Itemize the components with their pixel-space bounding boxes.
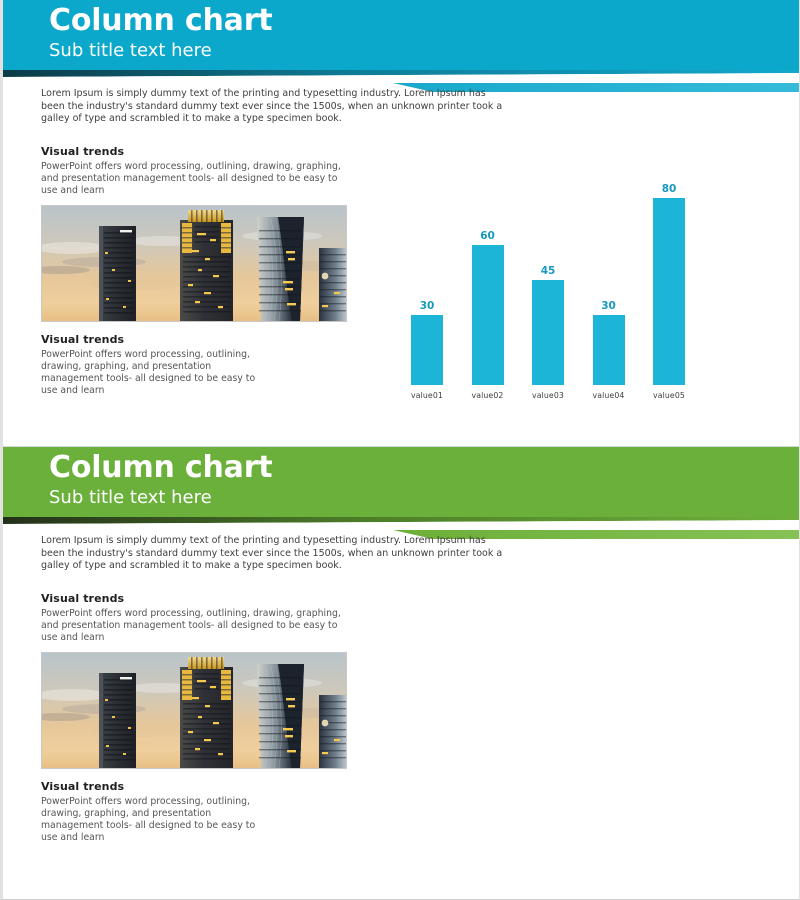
slide-1-block-bottom-heading: Visual trends: [41, 333, 356, 346]
slide-1-bar-value-3: 30: [601, 300, 616, 312]
slide-1-bar-value-0: 30: [420, 300, 435, 312]
slide-2-left-column: Visual trends PowerPoint offers word pro…: [41, 592, 356, 844]
slide-1-subtitle: Sub title text here: [49, 39, 272, 63]
slide-2-skyline-photo: [41, 652, 347, 769]
slide-1-bar-value-1: 60: [480, 230, 495, 242]
slide-1-block-bottom-body: PowerPoint offers word processing, outli…: [41, 349, 263, 396]
slide-2-banner: Column chart Sub title text here: [3, 447, 800, 517]
slide-1-xlabel-2: value03: [524, 391, 572, 400]
slide-2-block-top-body: PowerPoint offers word processing, outli…: [41, 608, 356, 643]
slide-1-block-top-heading: Visual trends: [41, 145, 356, 158]
slide-2-block-bottom-heading: Visual trends: [41, 780, 356, 793]
slide-1-banner-titles: Column chart Sub title text here: [49, 4, 272, 63]
slide-1-bar-group-4[interactable]: 80: [645, 155, 693, 385]
slide-1-banner: Column chart Sub title text here: [3, 0, 800, 70]
slide-1-title: Column chart: [49, 4, 272, 38]
slide-1-chart-x-axis-labels: value01 value02 value03 value04 value05: [403, 391, 693, 400]
slide-1-bar-3[interactable]: [593, 315, 625, 385]
slide-1: Column chart Sub title text here: [0, 0, 800, 447]
slide-1-bar-1[interactable]: [472, 245, 504, 385]
slide-2-block-top-heading: Visual trends: [41, 592, 356, 605]
slide-1-xlabel-4: value05: [645, 391, 693, 400]
slide-1-xlabel-0: value01: [403, 391, 451, 400]
slide-2-intro-paragraph: Lorem Ipsum is simply dummy text of the …: [41, 535, 511, 573]
slide-2-title: Column chart: [49, 451, 272, 485]
slide-1-xlabel-3: value04: [585, 391, 633, 400]
slide-1-column-chart: 30 60 45 30 80: [403, 155, 693, 400]
slide-1-left-column: Visual trends PowerPoint offers word pro…: [41, 145, 356, 397]
slide-1-bar-value-4: 80: [662, 183, 677, 195]
slide-1-intro-paragraph: Lorem Ipsum is simply dummy text of the …: [41, 88, 511, 126]
slide-1-bar-group-3[interactable]: 30: [585, 155, 633, 385]
slide-1-skyline-photo: [41, 205, 347, 322]
slide-1-bar-value-2: 45: [541, 265, 556, 277]
slide-1-bar-0[interactable]: [411, 315, 443, 385]
slide-1-bar-2[interactable]: [532, 280, 564, 385]
slide-1-bar-group-0[interactable]: 30: [403, 155, 451, 385]
slide-1-bar-group-1[interactable]: 60: [464, 155, 512, 385]
slide-1-chart-plot-area: 30 60 45 30 80: [403, 155, 693, 385]
slide-2-block-bottom-body: PowerPoint offers word processing, outli…: [41, 796, 263, 843]
slide-1-bar-4[interactable]: [653, 198, 685, 385]
slide-2: Column chart Sub title text here: [0, 447, 800, 900]
slide-2-subtitle: Sub title text here: [49, 486, 272, 510]
slide-2-banner-titles: Column chart Sub title text here: [49, 451, 272, 510]
slide-1-xlabel-1: value02: [464, 391, 512, 400]
slide-deck-page: Column chart Sub title text here: [0, 0, 800, 900]
slide-1-block-top-body: PowerPoint offers word processing, outli…: [41, 161, 356, 196]
slide-1-bar-group-2[interactable]: 45: [524, 155, 572, 385]
